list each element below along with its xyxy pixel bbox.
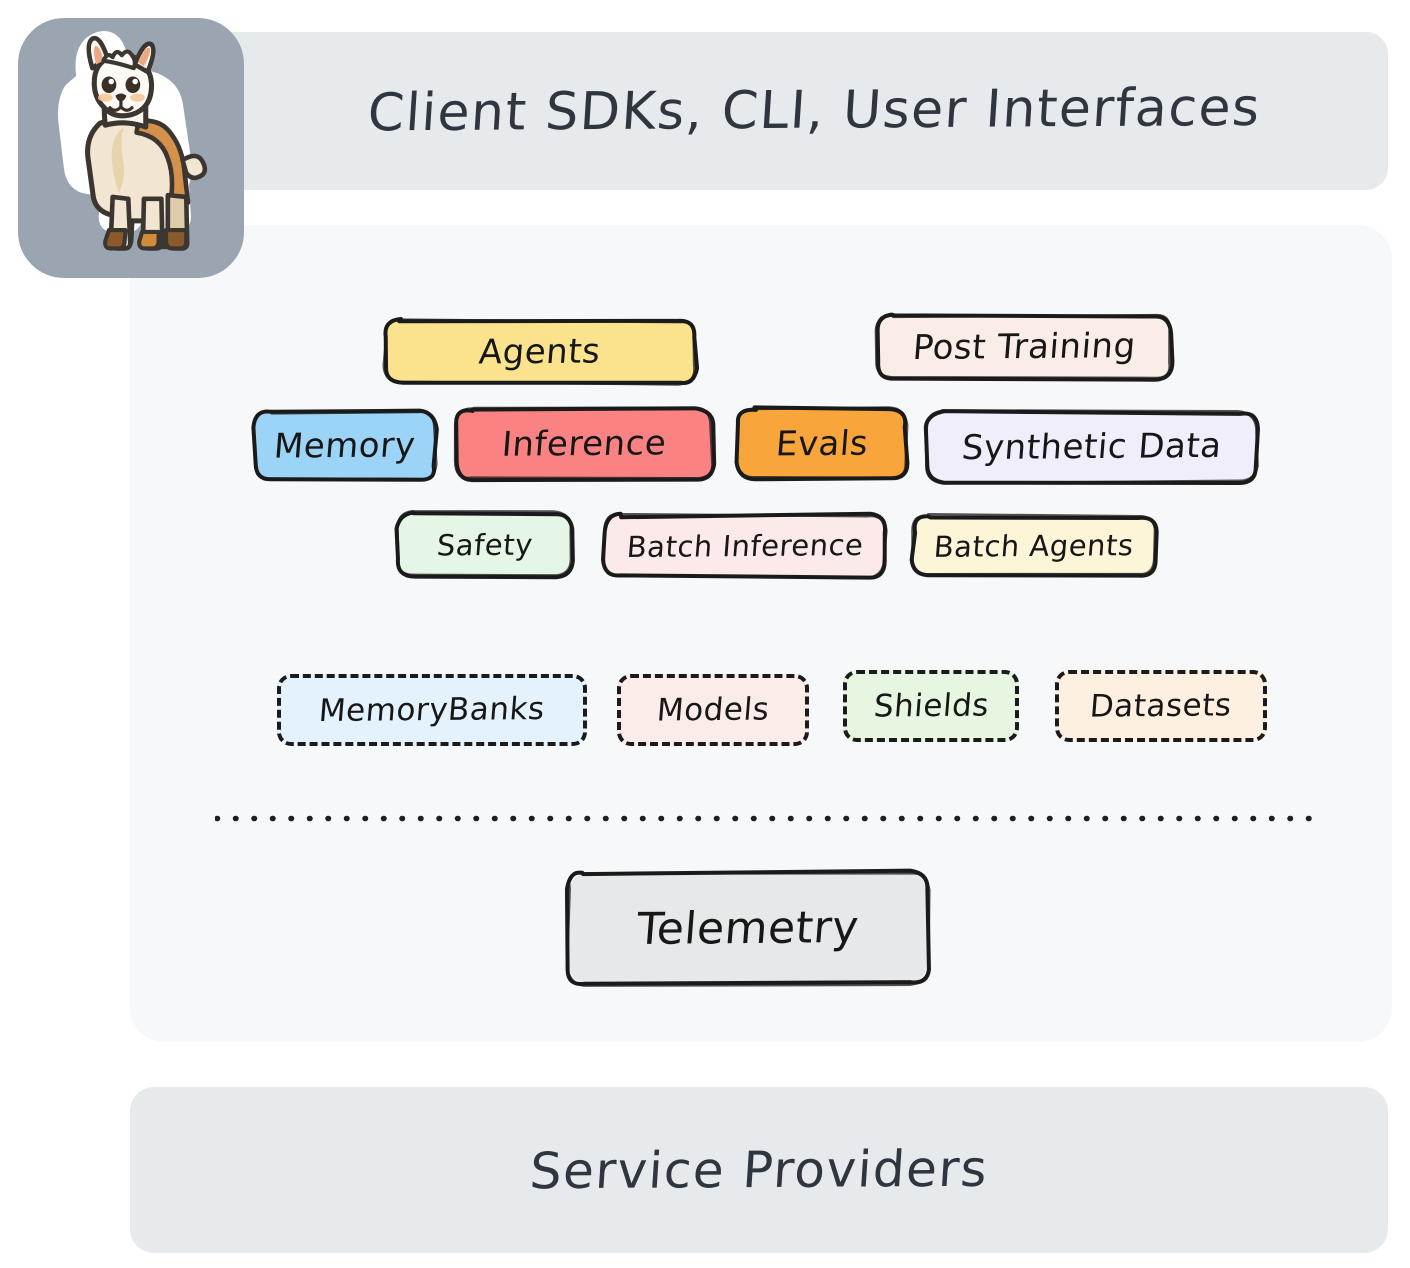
api-node-post-training[interactable]: Post Training [878,316,1171,378]
node-label: Evals [774,424,869,465]
node-label: Inference [501,423,669,464]
node-label: Agents [478,331,603,372]
node-label: Shields [872,687,990,724]
node-label: Synthetic Data [961,426,1224,468]
node-label: Batch Agents [933,528,1135,564]
page-title: Client SDKs, CLI, User Interfaces [256,78,1263,144]
api-node-synthetic-data[interactable]: Synthetic Data [928,412,1256,482]
service-providers-banner: Service Providers [130,1087,1388,1253]
node-label: Datasets [1089,687,1234,724]
resource-node-datasets[interactable]: Datasets [1055,670,1267,742]
api-node-agents[interactable]: Agents [385,321,695,383]
node-label: MemoryBanks [318,691,547,729]
api-node-memory[interactable]: Memory [255,412,435,480]
llama-logo-badge [18,18,244,278]
api-node-safety[interactable]: Safety [398,513,571,577]
client-layer-banner: Client SDKs, CLI, User Interfaces [130,32,1388,190]
node-label: Post Training [912,326,1138,368]
api-node-batch-agents[interactable]: Batch Agents [913,516,1155,576]
api-node-evals[interactable]: Evals [738,409,906,479]
section-divider [215,815,1322,822]
resource-node-memorybanks[interactable]: MemoryBanks [277,674,587,746]
node-label: Models [655,692,770,729]
resource-node-models[interactable]: Models [617,674,809,746]
node-label: Batch Inference [625,528,864,564]
node-label: Safety [435,528,534,563]
api-node-batch-inference[interactable]: Batch Inference [605,515,885,577]
telemetry-node[interactable]: Telemetry [568,872,928,984]
resource-node-shields[interactable]: Shields [843,670,1019,742]
llama-logo-icon [18,18,244,278]
api-node-inference[interactable]: Inference [457,409,712,479]
footer-title: Service Providers [528,1140,990,1200]
node-label: Memory [273,425,418,466]
node-label: Telemetry [635,902,861,955]
